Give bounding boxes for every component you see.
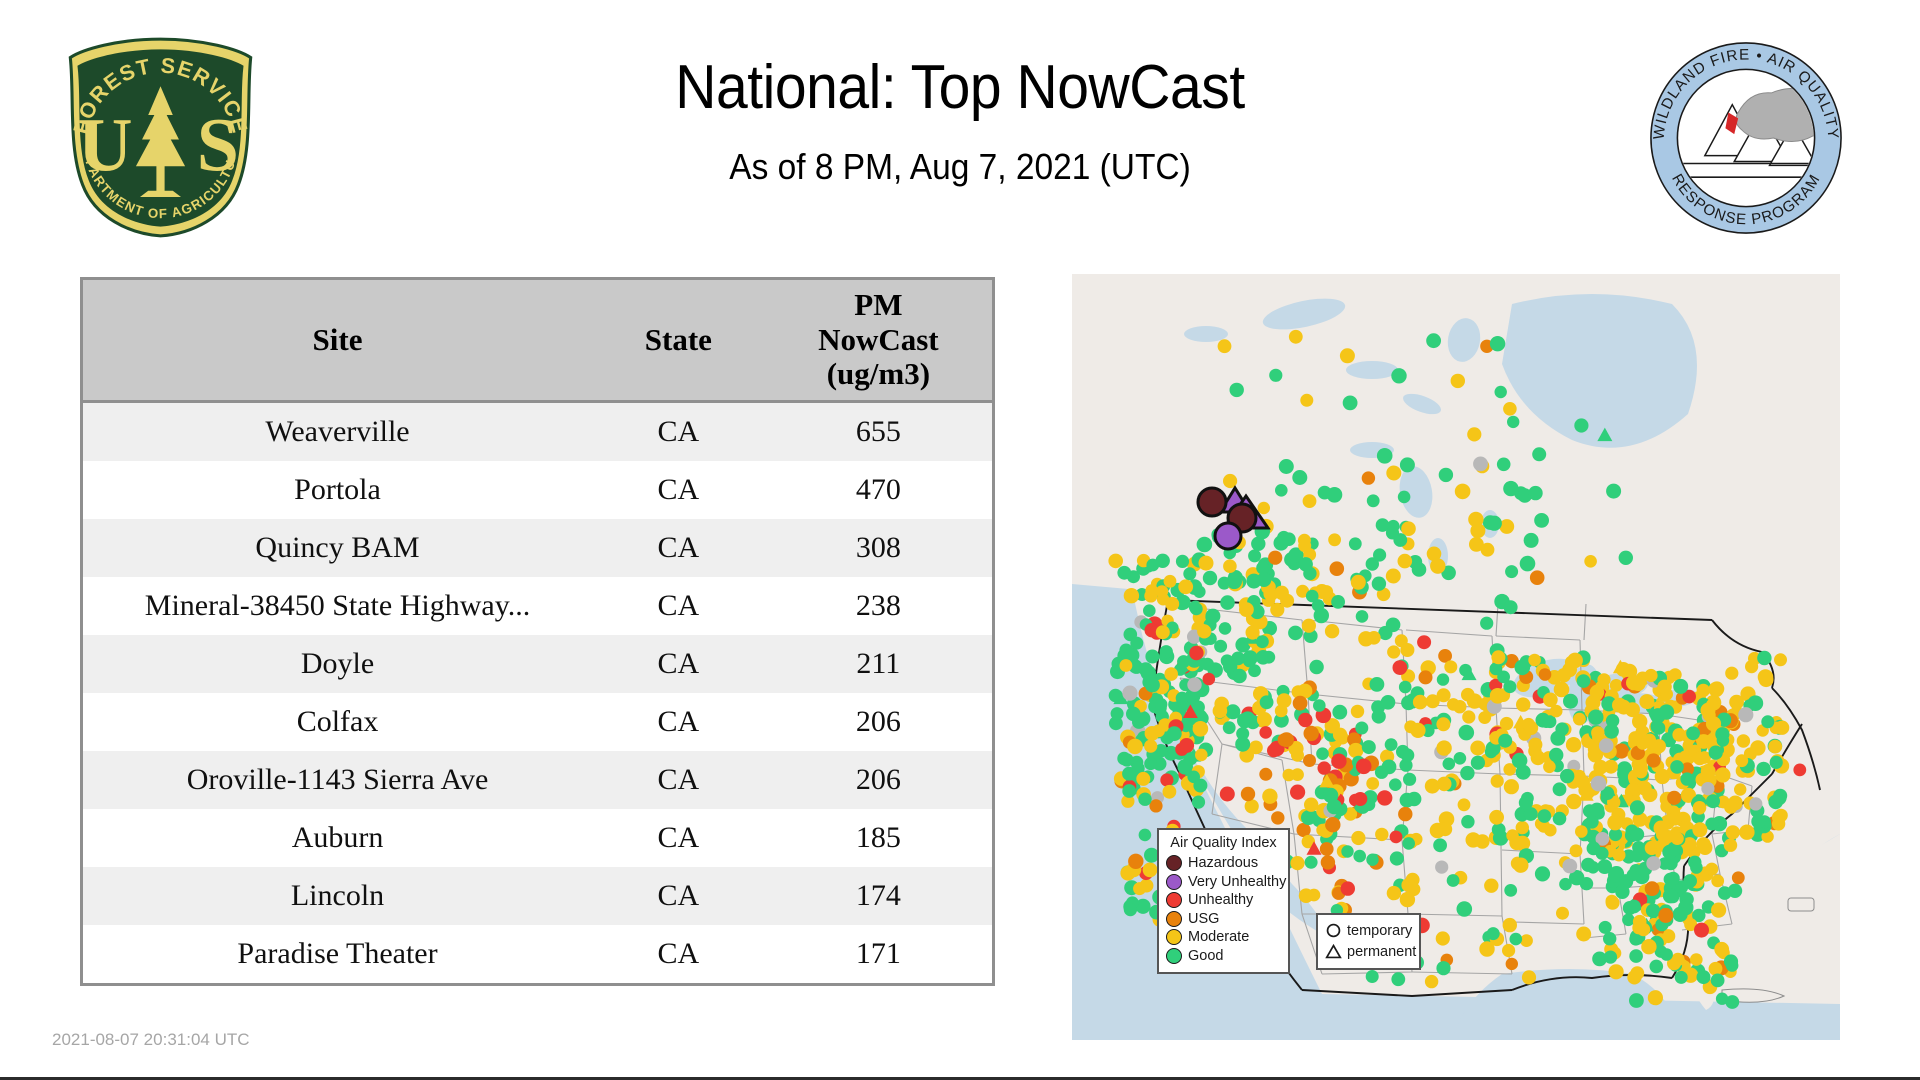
monitor-marker-temporary[interactable]	[1630, 966, 1644, 980]
monitor-marker-temporary[interactable]	[1737, 734, 1750, 747]
monitor-marker-temporary[interactable]	[1167, 726, 1182, 741]
monitor-marker-temporary[interactable]	[1145, 584, 1158, 597]
monitor-marker-temporary[interactable]	[1575, 825, 1588, 838]
monitor-marker-temporary[interactable]	[1774, 809, 1787, 822]
monitor-marker-temporary[interactable]	[1570, 844, 1583, 857]
monitor-marker-temporary[interactable]	[1220, 595, 1235, 610]
monitor-marker-temporary[interactable]	[1751, 815, 1765, 829]
monitor-marker-temporary[interactable]	[1165, 597, 1179, 611]
monitor-marker-temporary[interactable]	[1436, 931, 1450, 945]
monitor-marker-temporary[interactable]	[1492, 823, 1506, 837]
monitor-marker-temporary[interactable]	[1479, 941, 1494, 956]
monitor-marker-temporary[interactable]	[1606, 896, 1620, 910]
monitor-marker-temporary[interactable]	[1387, 520, 1400, 533]
monitor-marker-temporary[interactable]	[1590, 803, 1605, 818]
monitor-marker-temporary[interactable]	[1451, 374, 1465, 388]
monitor-marker-temporary[interactable]	[1694, 923, 1709, 938]
monitor-marker-temporary[interactable]	[1413, 695, 1428, 710]
monitor-marker-temporary[interactable]	[1221, 654, 1234, 667]
monitor-marker-temporary[interactable]	[1504, 884, 1517, 897]
monitor-marker-temporary[interactable]	[1366, 970, 1379, 983]
monitor-marker-temporary[interactable]	[1591, 776, 1607, 792]
monitor-marker-temporary[interactable]	[1489, 810, 1504, 825]
monitor-marker-temporary[interactable]	[1648, 990, 1663, 1005]
monitor-marker-temporary[interactable]	[1528, 738, 1542, 752]
monitor-marker-temporary[interactable]	[1402, 837, 1415, 850]
monitor-marker-temporary[interactable]	[1403, 773, 1416, 786]
monitor-marker-temporary[interactable]	[1697, 970, 1711, 984]
monitor-marker-temporary[interactable]	[1675, 971, 1688, 984]
monitor-marker-temporary[interactable]	[1724, 839, 1737, 852]
monitor-marker-temporary[interactable]	[1507, 416, 1519, 428]
monitor-marker-temporary[interactable]	[1660, 948, 1673, 961]
monitor-marker-temporary[interactable]	[1566, 794, 1581, 809]
monitor-marker-temporary[interactable]	[1596, 847, 1609, 860]
monitor-marker-temporary[interactable]	[1634, 869, 1649, 884]
monitor-marker-temporary[interactable]	[1262, 651, 1275, 664]
monitor-marker-temporary[interactable]	[1629, 993, 1644, 1008]
monitor-marker-temporary[interactable]	[1775, 721, 1789, 735]
monitor-marker-temporary[interactable]	[1549, 748, 1563, 762]
monitor-marker-temporary[interactable]	[1349, 537, 1362, 550]
monitor-marker-temporary[interactable]	[1377, 790, 1392, 805]
monitor-marker-temporary[interactable]	[1576, 927, 1591, 942]
monitor-marker-temporary[interactable]	[1728, 884, 1742, 898]
monitor-marker-temporary[interactable]	[1520, 556, 1536, 572]
monitor-marker-temporary[interactable]	[1510, 933, 1523, 946]
monitor-marker-temporary[interactable]	[1189, 646, 1203, 660]
monitor-marker-temporary[interactable]	[1522, 718, 1535, 731]
monitor-marker-temporary[interactable]	[1128, 854, 1143, 869]
monitor-marker-temporary[interactable]	[1543, 693, 1558, 708]
monitor-marker-temporary[interactable]	[1437, 777, 1452, 792]
monitor-marker-temporary[interactable]	[1332, 705, 1347, 720]
monitor-marker-temporary[interactable]	[1269, 369, 1282, 382]
monitor-marker-temporary[interactable]	[1503, 481, 1518, 496]
monitor-marker-temporary[interactable]	[1219, 622, 1232, 635]
monitor-marker-temporary[interactable]	[1444, 660, 1457, 673]
monitor-marker-temporary[interactable]	[1619, 551, 1633, 565]
monitor-marker-temporary[interactable]	[1425, 975, 1438, 988]
monitor-marker-temporary[interactable]	[1714, 942, 1729, 957]
monitor-marker-temporary[interactable]	[1249, 741, 1263, 755]
monitor-marker-temporary[interactable]	[1454, 752, 1467, 765]
monitor-marker-temporary[interactable]	[1768, 740, 1782, 754]
monitor-marker-temporary[interactable]	[1309, 660, 1323, 674]
monitor-marker-temporary[interactable]	[1243, 654, 1256, 667]
monitor-marker-temporary[interactable]	[1386, 618, 1401, 633]
monitor-marker-temporary[interactable]	[1401, 748, 1415, 762]
monitor-marker-temporary[interactable]	[1367, 494, 1380, 507]
monitor-marker-temporary[interactable]	[1666, 872, 1679, 885]
monitor-marker-temporary[interactable]	[1461, 688, 1475, 702]
monitor-marker-temporary[interactable]	[1412, 562, 1427, 577]
monitor-marker-temporary[interactable]	[1303, 494, 1317, 508]
monitor-marker-temporary[interactable]	[1468, 512, 1483, 527]
monitor-marker-temporary[interactable]	[1226, 574, 1242, 590]
monitor-marker-temporary[interactable]	[1693, 752, 1707, 766]
monitor-marker-temporary[interactable]	[1256, 635, 1269, 648]
monitor-marker-temporary[interactable]	[1430, 558, 1445, 573]
monitor-marker-temporary[interactable]	[1627, 900, 1641, 914]
monitor-marker-temporary[interactable]	[1726, 959, 1739, 972]
monitor-marker-temporary[interactable]	[1362, 740, 1376, 754]
monitor-marker-temporary[interactable]	[1271, 811, 1284, 824]
monitor-marker-temporary[interactable]	[1279, 732, 1294, 747]
monitor-marker-temporary[interactable]	[1373, 548, 1386, 561]
monitor-marker-temporary[interactable]	[1316, 747, 1329, 760]
monitor-marker-temporary[interactable]	[1604, 951, 1617, 964]
monitor-marker-temporary[interactable]	[1500, 717, 1513, 730]
monitor-marker-temporary[interactable]	[1690, 861, 1703, 874]
monitor-marker-temporary[interactable]	[1626, 675, 1641, 690]
monitor-marker-temporary[interactable]	[1302, 619, 1316, 633]
monitor-marker-temporary[interactable]	[1516, 821, 1529, 834]
monitor-marker-temporary[interactable]	[1739, 825, 1754, 840]
monitor-marker-temporary[interactable]	[1370, 677, 1385, 692]
monitor-marker-temporary[interactable]	[1759, 672, 1774, 687]
monitor-marker-temporary[interactable]	[1544, 824, 1557, 837]
monitor-marker-temporary[interactable]	[1197, 537, 1213, 553]
monitor-marker-temporary[interactable]	[1505, 565, 1518, 578]
monitor-marker-temporary[interactable]	[1550, 731, 1565, 746]
monitor-marker-temporary[interactable]	[1522, 970, 1536, 984]
monitor-marker-temporary[interactable]	[1160, 773, 1173, 786]
monitor-marker-temporary[interactable]	[1650, 960, 1664, 974]
monitor-marker-temporary[interactable]	[1313, 699, 1326, 712]
monitor-marker-temporary[interactable]	[1356, 610, 1369, 623]
monitor-marker-temporary[interactable]	[1512, 753, 1528, 769]
monitor-marker-temporary[interactable]	[1644, 669, 1657, 682]
monitor-marker-temporary[interactable]	[1460, 766, 1474, 780]
monitor-marker-temporary[interactable]	[1457, 901, 1473, 917]
monitor-marker-temporary[interactable]	[1453, 700, 1466, 713]
monitor-marker-temporary[interactable]	[1143, 863, 1158, 878]
monitor-marker-temporary[interactable]	[1400, 643, 1414, 657]
monitor-marker-temporary[interactable]	[1458, 798, 1471, 811]
monitor-marker-temporary[interactable]	[1519, 796, 1533, 810]
monitor-marker-temporary[interactable]	[1497, 458, 1511, 472]
monitor-marker-temporary[interactable]	[1145, 678, 1160, 693]
monitor-marker-temporary[interactable]	[1671, 832, 1684, 845]
monitor-marker-temporary[interactable]	[1462, 710, 1475, 723]
monitor-marker-temporary[interactable]	[1459, 725, 1475, 741]
monitor-marker-temporary[interactable]	[1179, 738, 1194, 753]
monitor-marker-temporary[interactable]	[1300, 394, 1313, 407]
monitor-marker-temporary[interactable]	[1321, 855, 1335, 869]
monitor-marker-temporary[interactable]	[1538, 809, 1552, 823]
monitor-marker-temporary[interactable]	[1283, 769, 1296, 782]
monitor-marker-temporary[interactable]	[1387, 645, 1400, 658]
monitor-marker-temporary[interactable]	[1588, 710, 1603, 725]
monitor-marker-temporary[interactable]	[1144, 757, 1157, 770]
monitor-marker-temporary[interactable]	[1393, 533, 1407, 547]
monitor-marker-temporary[interactable]	[1351, 705, 1364, 718]
monitor-marker-temporary[interactable]	[1455, 484, 1471, 500]
monitor-marker-temporary[interactable]	[1615, 885, 1629, 899]
monitor-marker-temporary[interactable]	[1734, 783, 1746, 795]
monitor-marker-temporary[interactable]	[1400, 457, 1415, 472]
monitor-marker-temporary[interactable]	[1290, 785, 1305, 800]
monitor-marker-temporary[interactable]	[1484, 879, 1498, 893]
monitor-marker-temporary[interactable]	[1475, 834, 1489, 848]
monitor-marker-temporary[interactable]	[1793, 764, 1806, 777]
monitor-marker-temporary[interactable]	[1711, 875, 1724, 888]
monitor-marker-temporary[interactable]	[1327, 487, 1343, 503]
monitor-marker-temporary[interactable]	[1528, 654, 1541, 667]
monitor-marker-temporary[interactable]	[1473, 457, 1488, 472]
monitor-marker-temporary[interactable]	[1563, 694, 1578, 709]
monitor-marker-temporary[interactable]	[1622, 914, 1635, 927]
monitor-marker-temporary[interactable]	[1667, 791, 1681, 805]
monitor-marker-temporary[interactable]	[1362, 471, 1375, 484]
monitor-marker-temporary[interactable]	[1574, 418, 1588, 432]
monitor-marker-temporary[interactable]	[1701, 782, 1714, 795]
monitor-marker-temporary[interactable]	[1562, 859, 1577, 874]
monitor-marker-temporary[interactable]	[1237, 713, 1252, 728]
monitor-marker-temporary[interactable]	[1683, 874, 1697, 888]
monitor-marker-temporary[interactable]	[1304, 798, 1318, 812]
monitor-marker-temporary[interactable]	[1673, 907, 1688, 922]
monitor-marker-temporary[interactable]	[1715, 767, 1730, 782]
monitor-marker-temporary[interactable]	[1599, 738, 1614, 753]
monitor-marker-temporary[interactable]	[1539, 668, 1552, 681]
monitor-marker-temporary[interactable]	[1659, 704, 1674, 719]
monitor-marker-temporary[interactable]	[1516, 697, 1530, 711]
monitor-marker-temporary[interactable]	[1299, 888, 1314, 903]
monitor-marker-temporary[interactable]	[1398, 554, 1413, 569]
monitor-marker-temporary[interactable]	[1239, 602, 1254, 617]
monitor-marker-temporary[interactable]	[1353, 850, 1366, 863]
monitor-marker-temporary[interactable]	[1304, 726, 1319, 741]
monitor-marker-temporary[interactable]	[1274, 535, 1289, 550]
monitor-marker-temporary[interactable]	[1436, 961, 1450, 975]
monitor-marker-temporary[interactable]	[1331, 754, 1346, 769]
monitor-marker-temporary[interactable]	[1223, 721, 1236, 734]
monitor-marker-temporary[interactable]	[1290, 856, 1304, 870]
monitor-marker-temporary[interactable]	[1490, 336, 1505, 351]
monitor-marker-temporary[interactable]	[1164, 575, 1177, 588]
monitor-marker-temporary[interactable]	[1735, 754, 1748, 767]
monitor-marker-temporary[interactable]	[1631, 849, 1645, 863]
monitor-marker-temporary[interactable]	[1220, 787, 1235, 802]
monitor-marker-temporary[interactable]	[1230, 383, 1244, 397]
monitor-marker-temporary[interactable]	[1646, 856, 1661, 871]
monitor-marker-temporary[interactable]	[1410, 723, 1425, 738]
monitor-marker-temporary[interactable]	[1145, 726, 1160, 741]
monitor-marker-temporary[interactable]	[1584, 555, 1597, 568]
monitor-marker-temporary[interactable]	[1275, 705, 1288, 718]
monitor-marker-temporary[interactable]	[1646, 904, 1660, 918]
monitor-marker-temporary[interactable]	[1343, 396, 1358, 411]
monitor-marker-temporary[interactable]	[1241, 787, 1255, 801]
monitor-marker-temporary[interactable]	[1761, 715, 1774, 728]
monitor-marker-temporary[interactable]	[1557, 668, 1571, 682]
monitor-marker-temporary[interactable]	[1560, 769, 1574, 783]
monitor-marker-temporary[interactable]	[1193, 721, 1209, 737]
monitor-marker-temporary[interactable]	[1348, 743, 1363, 758]
monitor-marker-temporary[interactable]	[1187, 678, 1201, 692]
monitor-marker-temporary[interactable]	[1178, 579, 1193, 594]
monitor-marker-temporary[interactable]	[1381, 695, 1396, 710]
monitor-marker-temporary[interactable]	[1711, 974, 1725, 988]
monitor-marker-temporary[interactable]	[1706, 699, 1719, 712]
monitor-marker-temporary[interactable]	[1289, 330, 1303, 344]
monitor-marker-temporary[interactable]	[1145, 650, 1159, 664]
monitor-marker-temporary[interactable]	[1398, 491, 1411, 504]
monitor-marker-temporary[interactable]	[1532, 447, 1546, 461]
monitor-marker-temporary[interactable]	[1671, 953, 1684, 966]
monitor-marker-temporary[interactable]	[1223, 559, 1237, 573]
monitor-marker-temporary[interactable]	[1385, 738, 1398, 751]
monitor-marker-temporary[interactable]	[1109, 689, 1123, 703]
monitor-marker-temporary[interactable]	[1117, 566, 1131, 580]
monitor-marker-temporary[interactable]	[1391, 368, 1406, 383]
monitor-marker-temporary[interactable]	[1268, 551, 1282, 565]
monitor-marker-temporary[interactable]	[1218, 339, 1232, 353]
monitor-marker-temporary[interactable]	[1470, 741, 1485, 756]
monitor-marker-temporary[interactable]	[1773, 789, 1787, 803]
monitor-marker-temporary[interactable]	[1581, 858, 1595, 872]
monitor-marker-temporary[interactable]	[1139, 662, 1153, 676]
monitor-marker-temporary[interactable]	[1318, 761, 1331, 774]
monitor-marker-temporary[interactable]	[1673, 679, 1688, 694]
monitor-marker-temporary[interactable]	[1390, 831, 1403, 844]
monitor-marker-temporary[interactable]	[1709, 962, 1723, 976]
monitor-marker-temporary[interactable]	[1580, 877, 1593, 890]
monitor-marker-temporary[interactable]	[1717, 734, 1730, 747]
monitor-marker-temporary[interactable]	[1139, 829, 1152, 842]
monitor-marker-temporary[interactable]	[1495, 386, 1507, 398]
monitor-marker-temporary[interactable]	[1149, 799, 1162, 812]
monitor-marker-temporary[interactable]	[1193, 779, 1207, 793]
monitor-marker-temporary[interactable]	[1417, 635, 1431, 649]
monitor-marker-temporary[interactable]	[1331, 595, 1345, 609]
monitor-marker-temporary[interactable]	[1632, 921, 1645, 934]
monitor-marker-temporary[interactable]	[1573, 713, 1586, 726]
monitor-marker-temporary[interactable]	[1203, 673, 1216, 686]
monitor-marker-temporary[interactable]	[1298, 539, 1311, 552]
monitor-marker-temporary[interactable]	[1213, 704, 1228, 719]
monitor-marker-temporary[interactable]	[1353, 792, 1367, 806]
monitor-marker-temporary[interactable]	[1750, 740, 1765, 755]
monitor-marker-temporary[interactable]	[1195, 749, 1208, 762]
monitor-marker-temporary[interactable]	[1724, 800, 1737, 813]
monitor-marker-temporary[interactable]	[1127, 739, 1143, 755]
monitor-marker-temporary[interactable]	[1756, 762, 1770, 776]
monitor-marker-temporary[interactable]	[1232, 669, 1247, 684]
monitor-marker-temporary[interactable]	[1607, 815, 1623, 831]
monitor-marker-temporary[interactable]	[1491, 775, 1504, 788]
monitor-marker-temporary[interactable]	[1111, 707, 1124, 720]
monitor-marker-temporary[interactable]	[1419, 670, 1433, 684]
monitor-marker-temporary[interactable]	[1377, 448, 1393, 464]
monitor-marker-temporary[interactable]	[1108, 554, 1123, 569]
monitor-marker-temporary[interactable]	[1732, 871, 1745, 884]
monitor-marker-temporary[interactable]	[1503, 918, 1517, 932]
monitor-marker-temporary[interactable]	[1513, 858, 1528, 873]
monitor-marker-temporary[interactable]	[1770, 756, 1783, 769]
monitor-marker-temporary[interactable]	[1608, 868, 1623, 883]
monitor-marker-temporary[interactable]	[1654, 821, 1669, 836]
monitor-marker-temporary[interactable]	[1487, 516, 1502, 531]
monitor-marker-temporary[interactable]	[1126, 707, 1141, 722]
monitor-marker-temporary[interactable]	[1726, 825, 1740, 839]
monitor-marker-temporary[interactable]	[1502, 944, 1515, 957]
monitor-marker-temporary[interactable]	[1275, 484, 1288, 497]
monitor-marker-temporary[interactable]	[1437, 673, 1449, 685]
monitor-marker-temporary[interactable]	[1606, 714, 1619, 727]
monitor-marker-temporary[interactable]	[1259, 726, 1272, 739]
monitor-marker-temporary[interactable]	[1436, 717, 1450, 731]
monitor-marker-temporary[interactable]	[1401, 878, 1415, 892]
monitor-marker-temporary[interactable]	[1258, 502, 1270, 514]
monitor-marker-temporary[interactable]	[1658, 908, 1673, 923]
monitor-marker-temporary[interactable]	[1672, 728, 1686, 742]
monitor-marker-temporary[interactable]	[1260, 695, 1274, 709]
monitor-marker-temporary[interactable]	[1535, 866, 1550, 881]
monitor-marker-temporary[interactable]	[1503, 402, 1517, 416]
monitor-marker-temporary[interactable]	[1256, 561, 1269, 574]
monitor-marker-temporary[interactable]	[1749, 797, 1762, 810]
monitor-marker-temporary[interactable]	[1375, 766, 1388, 779]
monitor-marker-temporary[interactable]	[1692, 822, 1707, 837]
monitor-marker-temporary[interactable]	[1293, 696, 1308, 711]
monitor-marker-temporary[interactable]	[1146, 559, 1159, 572]
monitor-marker-temporary[interactable]	[1709, 746, 1723, 760]
monitor-marker-temporary[interactable]	[1122, 686, 1137, 701]
monitor-marker-temporary[interactable]	[1646, 753, 1660, 767]
monitor-marker-temporary[interactable]	[1433, 838, 1447, 852]
monitor-marker-temporary[interactable]	[1670, 760, 1684, 774]
monitor-marker-temporary[interactable]	[1438, 822, 1452, 836]
monitor-marker-temporary[interactable]	[1639, 694, 1654, 709]
monitor-marker-temporary[interactable]	[1355, 722, 1368, 735]
monitor-marker-temporary[interactable]	[1351, 831, 1365, 845]
monitor-marker-temporary[interactable]	[1680, 772, 1693, 785]
monitor-marker-temporary[interactable]	[1641, 735, 1655, 749]
monitor-marker-temporary[interactable]	[1156, 625, 1170, 639]
monitor-marker-temporary[interactable]	[1738, 707, 1753, 722]
monitor-marker-temporary[interactable]	[1390, 851, 1404, 865]
monitor-marker-temporary[interactable]	[1706, 794, 1720, 808]
monitor-marker-temporary[interactable]	[1559, 878, 1572, 891]
monitor-marker-temporary[interactable]	[1697, 684, 1710, 697]
monitor-marker-temporary[interactable]	[1325, 817, 1340, 832]
monitor-marker-temporary[interactable]	[1372, 577, 1386, 591]
monitor-marker-temporary[interactable]	[1130, 637, 1143, 650]
monitor-marker-temporary[interactable]	[1498, 734, 1512, 748]
monitor-marker-temporary[interactable]	[1177, 655, 1190, 668]
monitor-marker-temporary[interactable]	[1467, 427, 1481, 441]
monitor-marker-temporary[interactable]	[1245, 799, 1259, 813]
monitor-marker-temporary[interactable]	[1447, 874, 1460, 887]
monitor-marker-temporary[interactable]	[1144, 740, 1157, 753]
monitor-marker-temporary[interactable]	[1480, 617, 1493, 630]
monitor-marker-temporary[interactable]	[1292, 470, 1307, 485]
monitor-marker-temporary[interactable]	[1591, 726, 1604, 739]
monitor-marker-temporary[interactable]	[1305, 856, 1318, 869]
monitor-marker-temporary[interactable]	[1124, 588, 1139, 603]
monitor-marker-temporary[interactable]	[1400, 892, 1415, 907]
monitor-marker-temporary[interactable]	[1725, 995, 1739, 1009]
monitor-marker-temporary[interactable]	[1163, 785, 1177, 799]
monitor-marker-temporary[interactable]	[1543, 761, 1556, 774]
monitor-marker-temporary[interactable]	[1487, 927, 1500, 940]
monitor-marker-temporary[interactable]	[1176, 555, 1189, 568]
monitor-marker-temporary[interactable]	[1536, 713, 1551, 728]
monitor-marker-temporary[interactable]	[1303, 754, 1316, 767]
